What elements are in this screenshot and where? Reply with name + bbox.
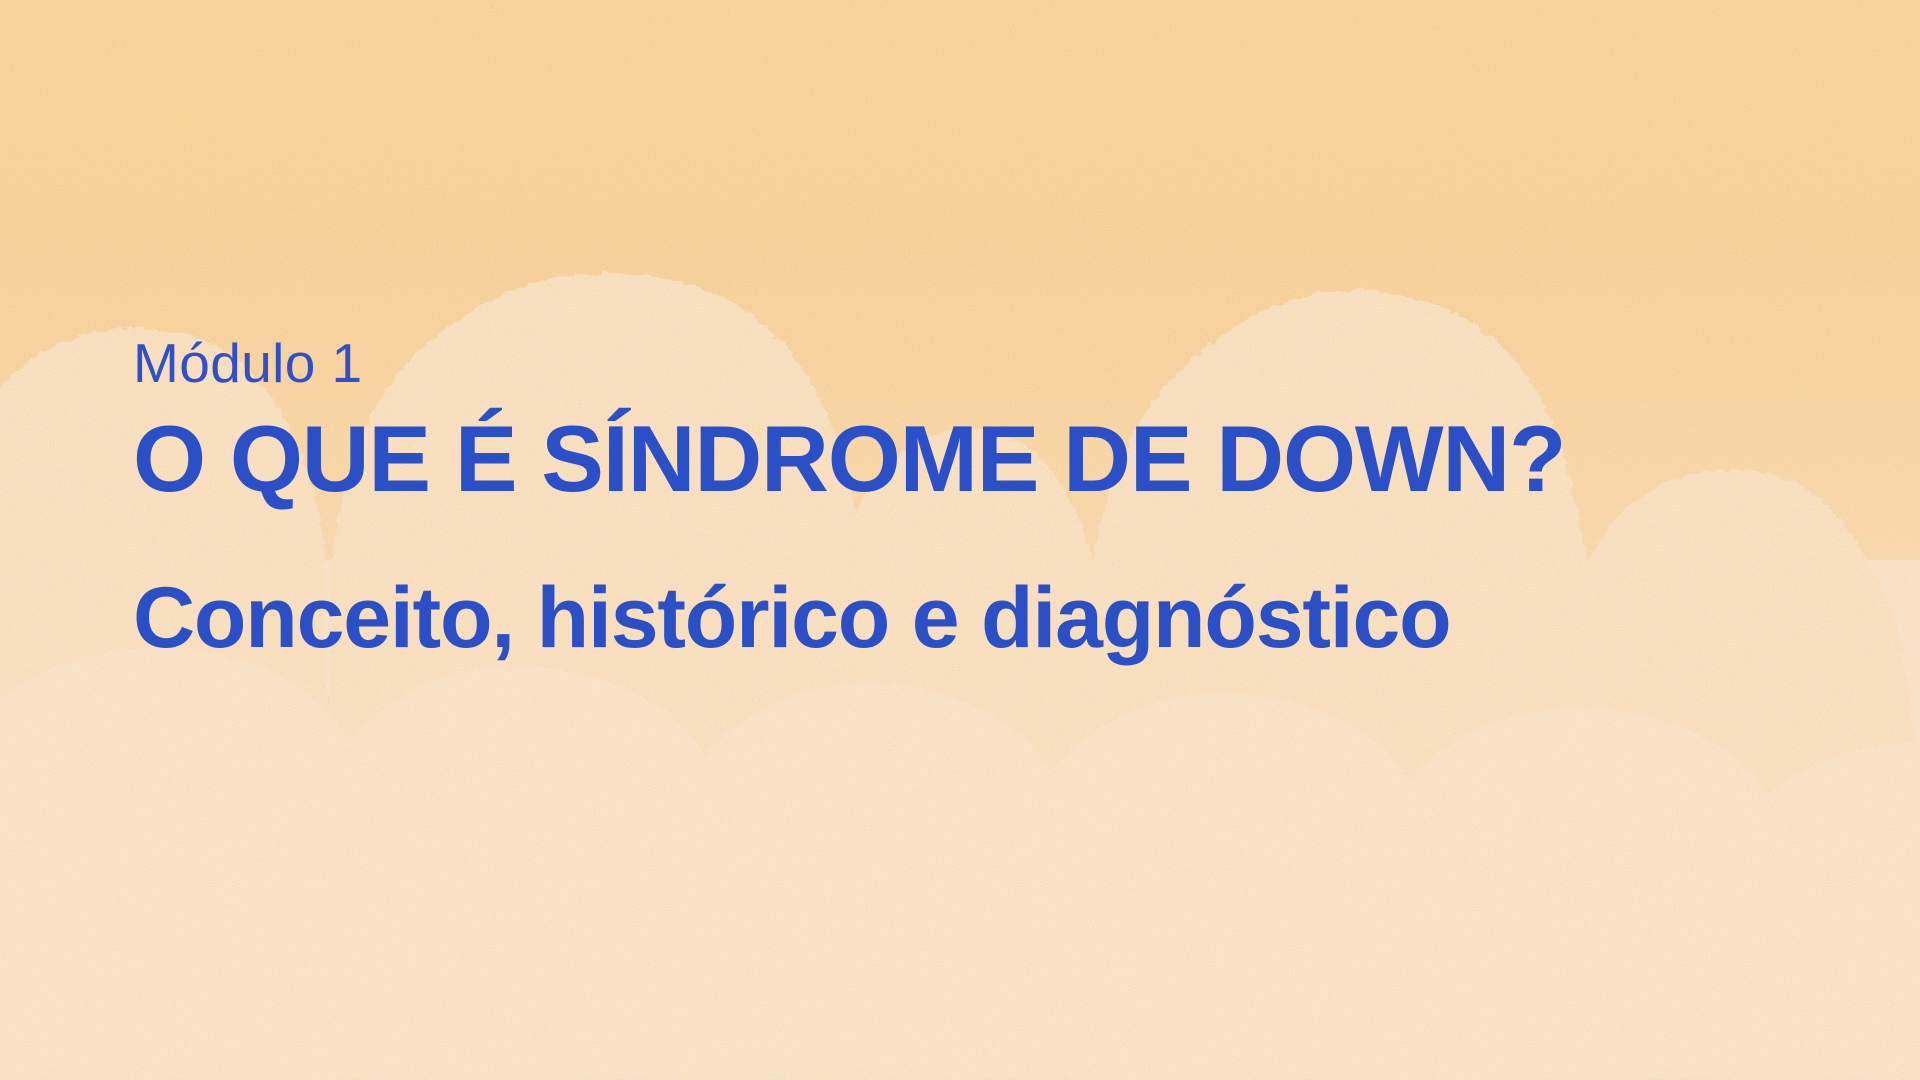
page-subtitle: Conceito, histórico e diagnóstico bbox=[133, 575, 1833, 661]
slide-canvas: Módulo 1 O QUE É SÍNDROME DE DOWN? Conce… bbox=[0, 0, 1920, 1080]
page-title: O QUE É SÍNDROME DE DOWN? bbox=[133, 412, 1833, 506]
module-label: Módulo 1 bbox=[133, 336, 1833, 391]
title-block: Módulo 1 O QUE É SÍNDROME DE DOWN? Conce… bbox=[133, 336, 1833, 661]
